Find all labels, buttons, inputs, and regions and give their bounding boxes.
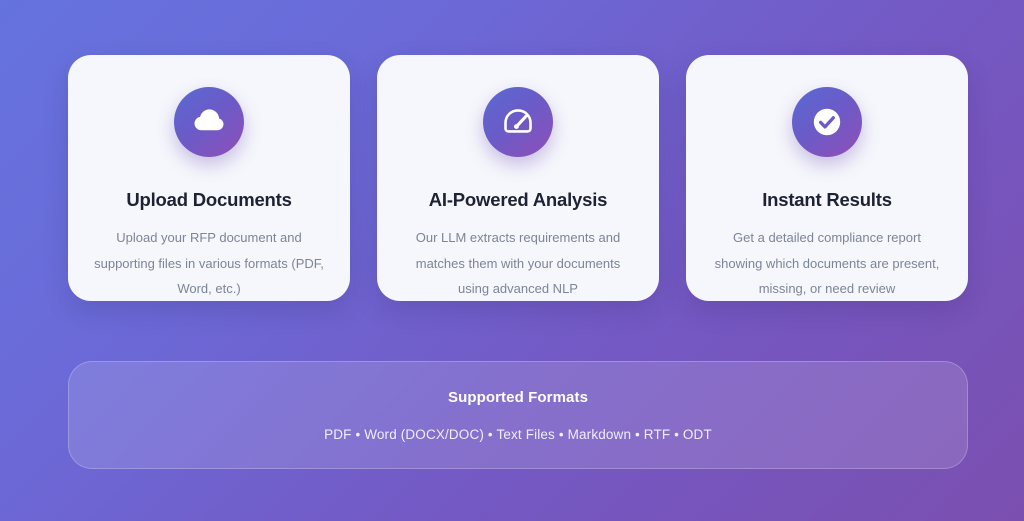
card-description: Upload your RFP document and supporting … xyxy=(93,225,325,302)
feature-card-upload-documents[interactable]: Upload Documents Upload your RFP documen… xyxy=(68,55,350,301)
feature-section: Upload Documents Upload your RFP documen… xyxy=(0,0,1024,521)
feature-cards-row: Upload Documents Upload your RFP documen… xyxy=(68,55,968,301)
card-title: Instant Results xyxy=(762,189,892,211)
supported-formats-panel: Supported Formats PDF • Word (DOCX/DOC) … xyxy=(68,361,968,469)
card-description: Get a detailed compliance report showing… xyxy=(711,225,943,302)
feature-card-instant-results[interactable]: Instant Results Get a detailed complianc… xyxy=(686,55,968,301)
check-circle-icon xyxy=(792,87,862,157)
card-description: Our LLM extracts requirements and matche… xyxy=(402,225,634,302)
gauge-icon xyxy=(483,87,553,157)
card-title: Upload Documents xyxy=(126,189,291,211)
feature-card-ai-powered-analysis[interactable]: AI-Powered Analysis Our LLM extracts req… xyxy=(377,55,659,301)
supported-formats-list: PDF • Word (DOCX/DOC) • Text Files • Mar… xyxy=(324,427,712,442)
cloud-upload-icon xyxy=(174,87,244,157)
card-title: AI-Powered Analysis xyxy=(429,189,608,211)
supported-formats-title: Supported Formats xyxy=(448,389,588,406)
